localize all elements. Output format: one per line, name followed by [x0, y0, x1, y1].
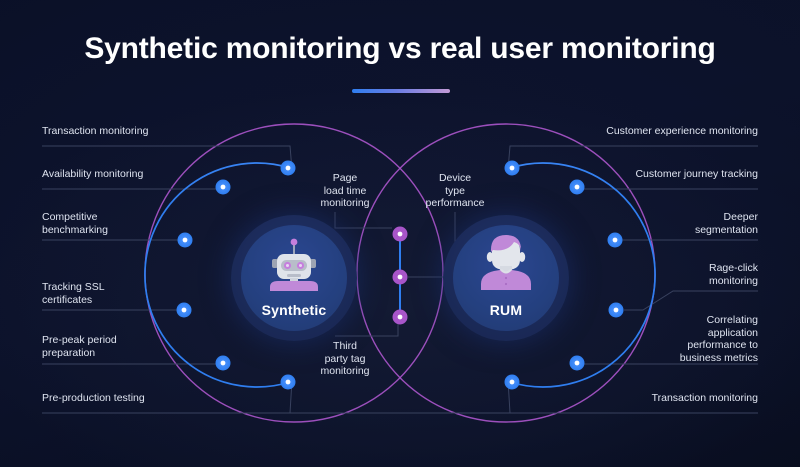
- left-label-1: Availability monitoring: [42, 168, 192, 181]
- right-connector-3: [624, 291, 758, 310]
- right-dot-1[interactable]: [570, 180, 585, 195]
- right-label-1: Customer journey tracking: [593, 168, 758, 181]
- right-connector-0: [508, 146, 758, 170]
- right-label-3: Rage-click monitoring: [593, 262, 758, 287]
- center-label-1: Device type performance: [400, 172, 510, 210]
- left-connector-0: [42, 146, 292, 170]
- user-icon: [478, 230, 534, 295]
- right-label-4: Correlating application performance to b…: [593, 314, 758, 364]
- right-dot-4[interactable]: [570, 356, 585, 371]
- robot-icon: [264, 233, 324, 296]
- center-dot-2[interactable]: [393, 310, 408, 325]
- center-label-0: Page load time monitoring: [290, 172, 400, 210]
- infographic-root: Synthetic monitoring vs real user monito…: [0, 0, 800, 467]
- right-label-0: Customer experience monitoring: [593, 125, 758, 138]
- left-dot-4[interactable]: [216, 356, 231, 371]
- left-label-2: Competitive benchmarking: [42, 211, 192, 236]
- right-label-2: Deeper segmentation: [593, 211, 758, 236]
- center-label-2: Third party tag monitoring: [290, 340, 400, 378]
- node-synthetic-label: Synthetic: [231, 302, 357, 318]
- center-dot-1[interactable]: [393, 270, 408, 285]
- left-label-3: Tracking SSL certificates: [42, 281, 192, 306]
- left-label-4: Pre-peak period preparation: [42, 334, 192, 359]
- left-label-5: Pre-production testing: [42, 392, 192, 405]
- right-label-5: Transaction monitoring: [593, 392, 758, 405]
- node-rum-label: RUM: [443, 302, 569, 318]
- right-dot-5[interactable]: [505, 375, 520, 390]
- center-connector-0: [335, 212, 392, 228]
- center-dot-0[interactable]: [393, 227, 408, 242]
- left-label-0: Transaction monitoring: [42, 125, 192, 138]
- left-dot-1[interactable]: [216, 180, 231, 195]
